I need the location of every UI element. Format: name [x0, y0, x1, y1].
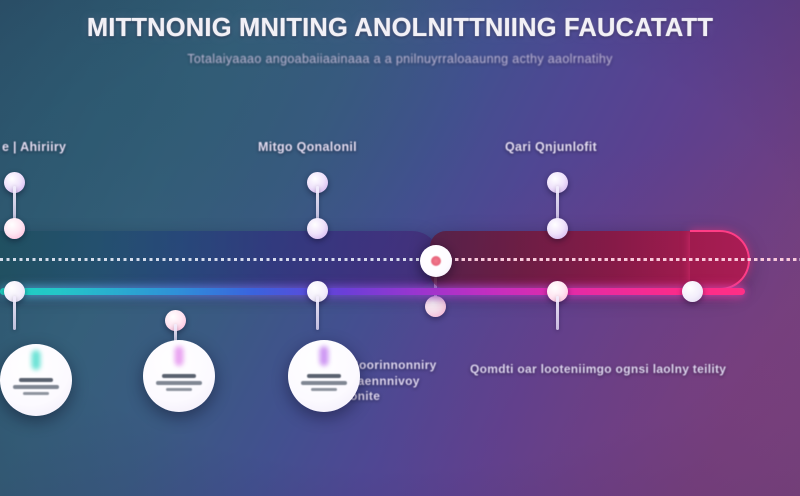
top-label-3: Qari Qnjunlofit — [505, 140, 597, 154]
progress-rail[interactable] — [0, 288, 745, 295]
header: MITTNONIG MNITING ANOLNITTNIING FAUCATAT… — [0, 14, 800, 66]
page-subtitle: Totalaiyaaao angoabaiiaainaaa a a pnilnu… — [0, 52, 800, 66]
marker-4-mid-node[interactable] — [547, 218, 568, 239]
card-3-text-lines — [301, 374, 347, 394]
timeline-infographic: MITTNONIG MNITING ANOLNITTNIING FAUCATAT… — [0, 0, 800, 496]
marker-4-lower-stem — [556, 296, 559, 330]
marker-1-stem — [13, 186, 16, 220]
marker-1-mid-node[interactable] — [4, 218, 25, 239]
top-label-1: e | Ahiriiry — [2, 140, 66, 154]
marker-3-stem — [316, 186, 319, 220]
timeline-hub-node[interactable] — [420, 245, 452, 277]
dotted-rail-warm — [436, 258, 800, 261]
marker-5-rail-node[interactable] — [682, 281, 703, 302]
card-2[interactable] — [143, 340, 215, 412]
card-1-text-lines — [13, 378, 59, 398]
marker-3-lower-stem — [316, 296, 319, 330]
card-3-accent-icon — [320, 346, 329, 366]
card-3[interactable] — [288, 340, 360, 412]
bottom-label-2: Qomdti oar looteniimgo ognsi laolny teil… — [470, 362, 726, 378]
bottom-label-1: Boorinnonniry oaennnivoy onite — [350, 358, 437, 405]
card-1[interactable] — [0, 344, 72, 416]
marker-3-mid-node[interactable] — [307, 218, 328, 239]
marker-4-stem — [556, 186, 559, 220]
marker-1-lower-stem — [13, 296, 16, 330]
page-title: MITTNONIG MNITING ANOLNITTNIING FAUCATAT… — [0, 14, 800, 43]
card-2-text-lines — [156, 374, 202, 394]
timeline-hub-lower-node[interactable] — [425, 296, 446, 317]
card-1-accent-icon — [32, 350, 41, 370]
card-2-accent-icon — [175, 346, 184, 366]
top-label-2: Mitgo Qonalonil — [258, 140, 357, 154]
